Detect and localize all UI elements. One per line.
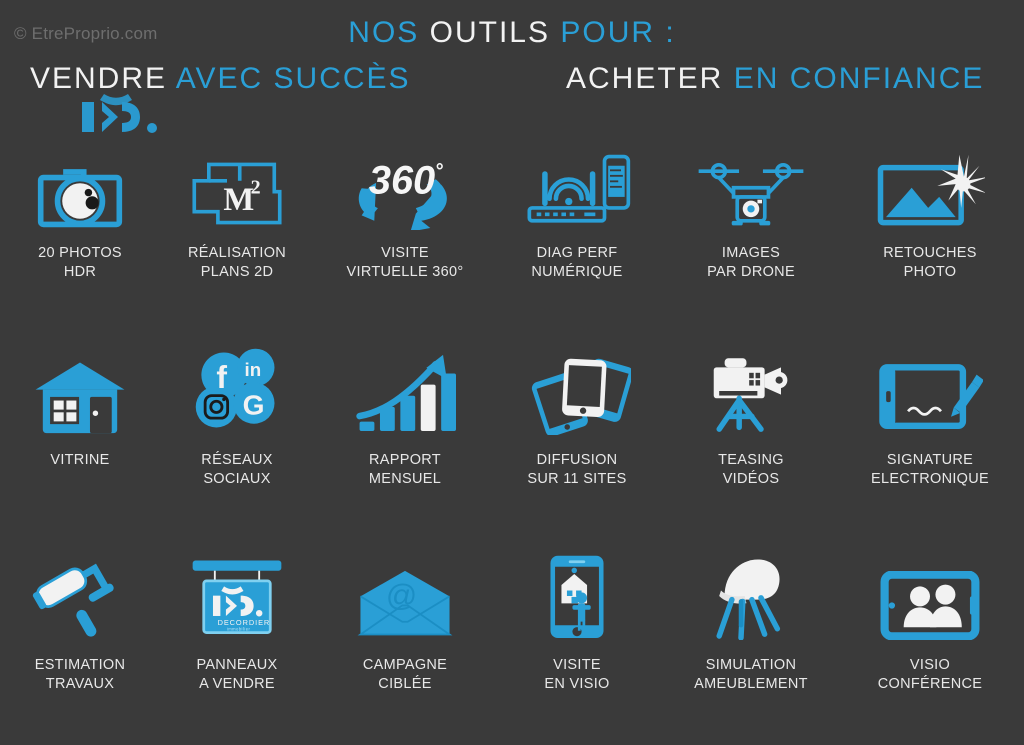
svg-text:360: 360 <box>369 159 435 203</box>
subtitle-acheter-blue: EN CONFIANCE <box>734 62 985 95</box>
email-at-icon: @ <box>330 540 480 640</box>
chair-icon <box>676 540 826 640</box>
tool-card-reseaux-sociaux[interactable]: f in G RÉSEAUX SOCIAUX <box>162 335 312 489</box>
tool-card-estimation-travaux[interactable]: ESTIMATION TRAVAUX <box>5 540 155 694</box>
tools-row-3: ESTIMATION TRAVAUX <box>0 540 1024 745</box>
tool-label: VISIO CONFÉRENCE <box>855 656 1005 694</box>
tool-label: VITRINE <box>5 451 155 470</box>
svg-text:immobilier: immobilier <box>227 627 251 632</box>
for-sale-sign-icon: DECORDIER immobilier <box>162 540 312 640</box>
growth-chart-icon <box>330 335 480 435</box>
tool-card-rapport-mensuel[interactable]: RAPPORT MENSUEL <box>330 335 480 489</box>
paint-roller-icon <box>5 540 155 640</box>
tool-card-visite-en-visio[interactable]: VISITE EN VISIO <box>502 540 652 694</box>
subtitle-vendre-blue: AVEC SUCCÈS <box>176 62 411 95</box>
tool-card-vitrine[interactable]: VITRINE <box>5 335 155 470</box>
tool-label: DIAG PERF NUMÉRIQUE <box>502 244 652 282</box>
tool-card-diffusion-sur-11-sites[interactable]: DIFFUSION SUR 11 SITES <box>502 335 652 489</box>
tool-label: DIFFUSION SUR 11 SITES <box>502 451 652 489</box>
360-arrows-icon: 360 ° <box>330 130 480 230</box>
subtitle-acheter: ACHETER EN CONFIANCE <box>566 62 984 96</box>
tool-card-panneaux-a-vendre[interactable]: DECORDIER immobilier PANNEAUX A VENDRE <box>162 540 312 694</box>
tool-label: CAMPAGNE CIBLÉE <box>330 656 480 694</box>
tool-card-retouches-photo[interactable]: RETOUCHES PHOTO <box>855 130 1005 282</box>
tool-label: RÉALISATION PLANS 2D <box>162 244 312 282</box>
tools-row-1: 20 PHOTOS HDR M 2 RÉALISATION PLANS 2D <box>0 130 1024 335</box>
camera-icon <box>5 130 155 230</box>
tool-label: IMAGES PAR DRONE <box>676 244 826 282</box>
tool-label: PANNEAUX A VENDRE <box>162 656 312 694</box>
title-part-pour: POUR : <box>560 16 675 49</box>
tool-label: 20 PHOTOS HDR <box>5 244 155 282</box>
infographic-page: © EtreProprio.com NOS OUTILS POUR : VEND… <box>0 0 1024 728</box>
tool-card-images-par-drone[interactable]: IMAGES PAR DRONE <box>676 130 826 282</box>
social-networks-icon: f in G <box>162 335 312 435</box>
video-camera-icon <box>676 335 826 435</box>
subtitle-vendre-white: VENDRE <box>30 62 176 95</box>
svg-text:M: M <box>223 182 254 218</box>
tool-card-20-photos-hdr[interactable]: 20 PHOTOS HDR <box>5 130 155 282</box>
svg-text:°: ° <box>436 160 444 182</box>
tool-label: VISITE EN VISIO <box>502 656 652 694</box>
floorplan-m2-icon: M 2 <box>162 130 312 230</box>
tool-card-realisation-plans-2d[interactable]: M 2 RÉALISATION PLANS 2D <box>162 130 312 282</box>
subtitle-acheter-white: ACHETER <box>566 62 734 95</box>
tool-label: TEASING VIDÉOS <box>676 451 826 489</box>
tool-card-campagne-ciblee[interactable]: @ CAMPAGNE CIBLÉE <box>330 540 480 694</box>
tools-grid: 20 PHOTOS HDR M 2 RÉALISATION PLANS 2D <box>0 130 1024 745</box>
tool-card-simulation-ameublement[interactable]: SIMULATION AMEUBLEMENT <box>676 540 826 694</box>
tool-card-visio-conference[interactable]: VISIO CONFÉRENCE <box>855 540 1005 694</box>
router-phone-icon <box>502 130 652 230</box>
tool-label: VISITE VIRTUELLE 360° <box>330 244 480 282</box>
tools-row-2: VITRINE f in <box>0 335 1024 540</box>
svg-text:2: 2 <box>251 177 261 199</box>
tool-card-teasing-videos[interactable]: TEASING VIDÉOS <box>676 335 826 489</box>
phone-visit-icon <box>502 540 652 640</box>
tool-label: RAPPORT MENSUEL <box>330 451 480 489</box>
tablets-icon <box>502 335 652 435</box>
tool-label: ESTIMATION TRAVAUX <box>5 656 155 694</box>
svg-text:in: in <box>245 359 262 380</box>
tool-card-visite-virtuelle-360[interactable]: 360 ° VISITE VIRTUELLE 360° <box>330 130 480 282</box>
tool-label: RÉSEAUX SOCIAUX <box>162 451 312 489</box>
svg-text:G: G <box>243 389 265 420</box>
drone-icon <box>676 130 826 230</box>
svg-text:f: f <box>216 359 227 395</box>
tool-label: RETOUCHES PHOTO <box>855 244 1005 282</box>
esign-tablet-icon <box>855 335 1005 435</box>
shop-house-icon <box>5 335 155 435</box>
video-call-icon <box>855 540 1005 640</box>
tool-card-diag-perf-numerique[interactable]: DIAG PERF NUMÉRIQUE <box>502 130 652 282</box>
page-title: NOS OUTILS POUR : <box>0 16 1024 50</box>
svg-text:@: @ <box>386 577 417 612</box>
title-part-nos: NOS <box>348 16 429 49</box>
tool-label: SIGNATURE ELECTRONIQUE <box>855 451 1005 489</box>
tool-card-signature-electronique[interactable]: SIGNATURE ELECTRONIQUE <box>855 335 1005 489</box>
photo-retouch-icon <box>855 130 1005 230</box>
subtitle-vendre: VENDRE AVEC SUCCÈS <box>30 62 411 96</box>
tool-label: SIMULATION AMEUBLEMENT <box>676 656 826 694</box>
title-part-outils: OUTILS <box>430 16 561 49</box>
